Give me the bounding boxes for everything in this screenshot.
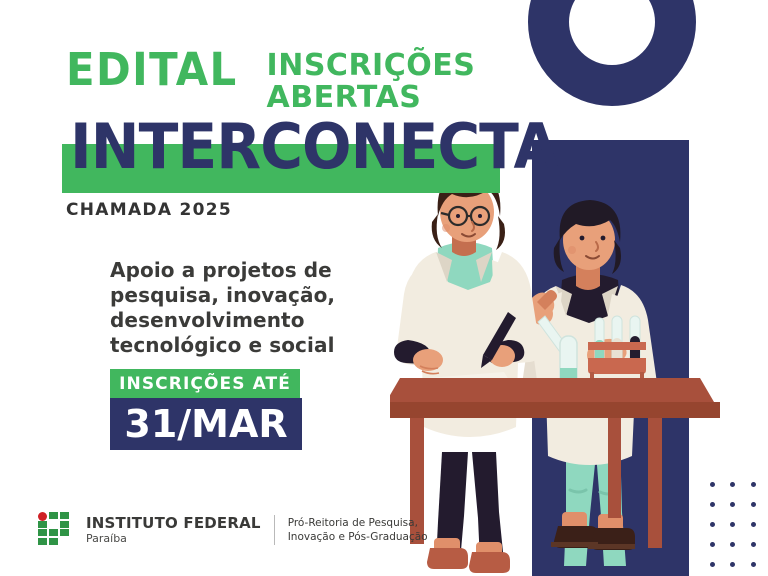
footer-branding: INSTITUTO FEDERAL Paraíba Pró-Reitoria d… bbox=[38, 512, 428, 548]
institution-block: INSTITUTO FEDERAL Paraíba bbox=[86, 515, 261, 546]
deadline-label-box: INSCRIÇÕES ATÉ bbox=[110, 369, 300, 398]
institution-campus: Paraíba bbox=[86, 532, 261, 546]
navy-ring-icon bbox=[528, 0, 696, 106]
program-title: INTERCONECTA bbox=[70, 116, 558, 178]
deadline-date-box: 31/MAR bbox=[110, 398, 302, 450]
deadline-date: 31/MAR bbox=[124, 405, 287, 443]
description-text: Apoio a projetos de pesquisa, inovação, … bbox=[110, 258, 410, 358]
footer-divider bbox=[274, 515, 275, 545]
headline-inscricoes-abertas: INSCRIÇÕES ABERTAS bbox=[267, 50, 476, 114]
instituto-federal-logo-icon bbox=[38, 512, 74, 548]
footer-text-group: INSTITUTO FEDERAL Paraíba Pró-Reitoria d… bbox=[86, 515, 428, 546]
headline-row: EDITAL INSCRIÇÕES ABERTAS bbox=[66, 48, 475, 114]
call-year-label: CHAMADA 2025 bbox=[66, 200, 232, 220]
headline-edital: EDITAL bbox=[66, 48, 238, 92]
deadline-label: INSCRIÇÕES ATÉ bbox=[119, 374, 291, 394]
institution-name: INSTITUTO FEDERAL bbox=[86, 515, 261, 532]
lab-scientists-illustration bbox=[390, 190, 720, 576]
department-name: Pró-Reitoria de Pesquisa, Inovação e Pós… bbox=[288, 516, 428, 544]
dot-grid-decoration bbox=[702, 474, 762, 574]
headline-inscricoes: INSCRIÇÕES bbox=[267, 50, 476, 82]
poster-canvas: EDITAL INSCRIÇÕES ABERTAS INTERCONECTA C… bbox=[0, 0, 768, 576]
